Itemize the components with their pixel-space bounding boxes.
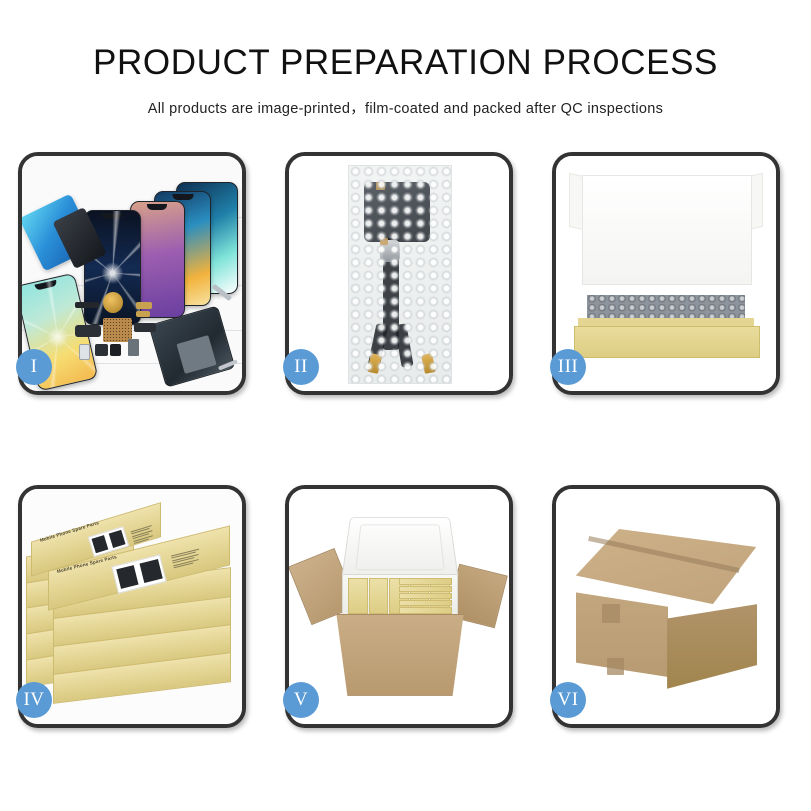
foam-box-lid: [341, 517, 458, 580]
step-6-image: [556, 489, 776, 724]
component-ribbon-strip: [75, 302, 99, 308]
step-4-image: Mobile Phone Spare Parts Mobile Phone Sp…: [22, 489, 242, 724]
process-step-3[interactable]: III: [552, 152, 780, 395]
component-camera-module: [95, 344, 108, 356]
component-flex-cable-left: [75, 325, 101, 337]
page-header: PRODUCT PREPARATION PROCESS All products…: [0, 0, 811, 118]
component-battery-small: [128, 339, 139, 355]
page-title: PRODUCT PREPARATION PROCESS: [0, 44, 811, 83]
process-step-2[interactable]: II: [285, 152, 513, 395]
process-step-6[interactable]: VI: [552, 485, 780, 728]
carton-body: [331, 614, 469, 696]
page-subtitle: All products are image-printed，film-coat…: [0, 97, 811, 118]
process-steps-grid: I II I: [18, 152, 793, 728]
step-3-image: [556, 156, 776, 391]
step-1-image: [22, 156, 242, 391]
step-badge-4: IV: [16, 682, 52, 718]
box-lid-panel: [582, 175, 751, 285]
step-badge-5: V: [283, 682, 319, 718]
step-badge-1: I: [16, 349, 52, 385]
carton-tape-lower: [607, 658, 625, 674]
carton-side-face: [667, 604, 757, 689]
box-tray-front: [574, 326, 761, 359]
process-step-4[interactable]: Mobile Phone Spare Parts Mobile Phone Sp…: [18, 485, 246, 728]
component-connector-a: [136, 302, 151, 309]
bubble-wrap-bag: [348, 165, 451, 383]
component-sim-tray: [79, 344, 90, 360]
process-step-1[interactable]: I: [18, 152, 246, 395]
carton-tape-upper: [602, 604, 620, 623]
component-flex-cable-right: [134, 323, 156, 332]
step-5-image: [289, 489, 509, 724]
step-badge-6: VI: [550, 682, 586, 718]
component-screw-grid: [103, 318, 132, 342]
component-connector-b: [136, 311, 149, 317]
process-step-5[interactable]: V: [285, 485, 513, 728]
step-badge-2: II: [283, 349, 319, 385]
step-2-image: [289, 156, 509, 391]
bubble-texture: [349, 166, 450, 382]
step-badge-3: III: [550, 349, 586, 385]
packed-boxes-horizontal: [399, 578, 452, 613]
component-speaker: [110, 344, 121, 356]
